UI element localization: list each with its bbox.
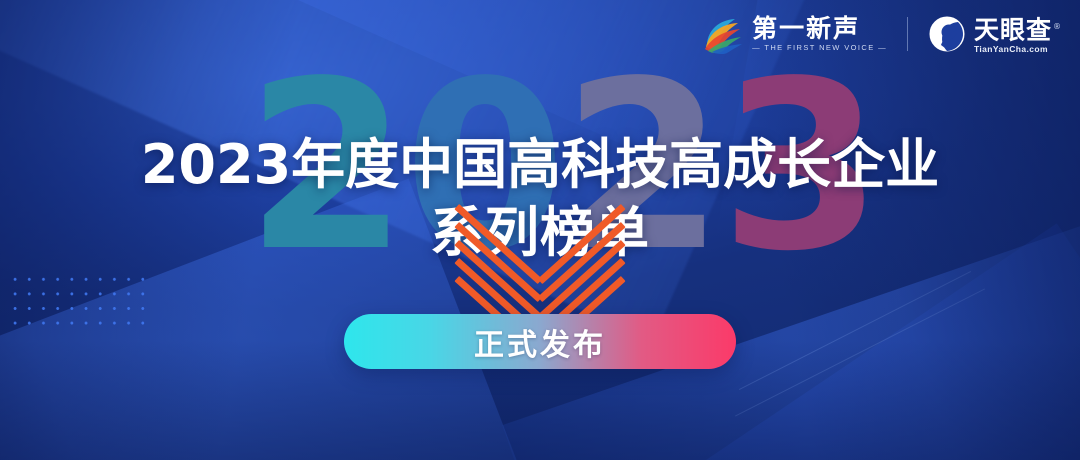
tianyancha-eye-icon xyxy=(928,15,966,53)
logo-diyixinsheng[interactable]: 第一新声 — THE FIRST NEW VOICE — xyxy=(702,14,887,54)
logo-divider xyxy=(907,17,908,51)
tianyancha-name-text: 天眼查 xyxy=(974,15,1052,44)
diyixinsheng-name-cn: 第一新声 xyxy=(752,16,887,42)
release-badge[interactable]: 正式发布 xyxy=(344,314,736,369)
promo-banner: 2 0 2 3 2023年度中国高科技高成长企业 系列榜单 正式发布 xyxy=(0,0,1080,460)
diyixinsheng-tagline: — THE FIRST NEW VOICE — xyxy=(752,43,887,53)
diyixinsheng-ribbon-icon xyxy=(702,14,744,54)
release-badge-label: 正式发布 xyxy=(474,320,606,364)
title-line-1: 2023年度中国高科技高成长企业 xyxy=(0,134,1080,196)
tianyancha-name-cn: 天眼查® xyxy=(974,14,1062,43)
banner-title: 2023年度中国高科技高成长企业 系列榜单 xyxy=(0,134,1080,264)
logo-tianyancha[interactable]: 天眼查® TianYanCha.com xyxy=(928,14,1062,54)
title-line-2: 系列榜单 xyxy=(0,202,1080,264)
logo-group: 第一新声 — THE FIRST NEW VOICE — 天眼查® TianYa… xyxy=(702,14,1062,54)
tianyancha-wordmark: 天眼查® TianYanCha.com xyxy=(974,14,1062,54)
tianyancha-domain: TianYanCha.com xyxy=(974,44,1062,54)
diyixinsheng-wordmark: 第一新声 — THE FIRST NEW VOICE — xyxy=(752,16,887,53)
tianyancha-trademark: ® xyxy=(1053,22,1062,31)
dot-grid-decoration xyxy=(8,272,152,334)
